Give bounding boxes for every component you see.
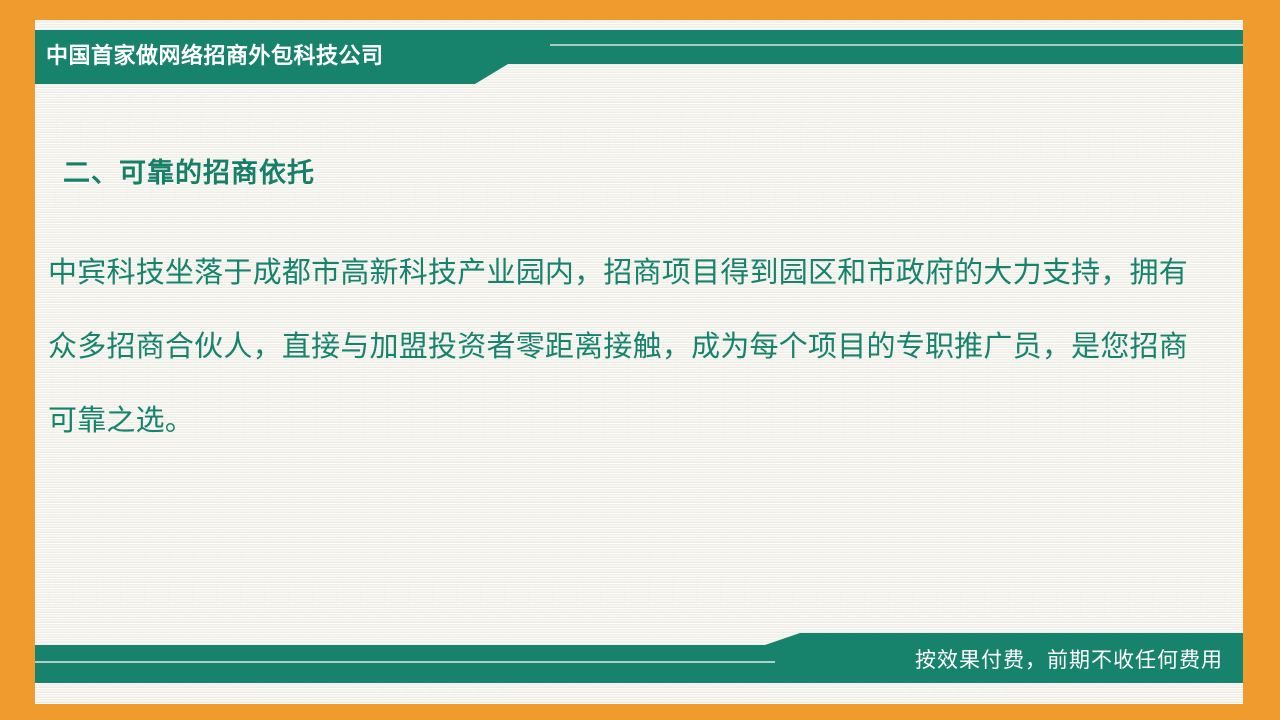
section-paragraph: 中宾科技坐落于成都市高新科技产业园内，招商项目得到园区和市政府的大力支持，拥有众… xyxy=(48,236,1188,458)
slide-canvas: 中国首家做网络招商外包科技公司 二、可靠的招商依托 中宾科技坐落于成都市高新科技… xyxy=(0,0,1280,720)
header-accent-line xyxy=(550,44,1243,46)
slide-content-area: 中国首家做网络招商外包科技公司 二、可靠的招商依托 中宾科技坐落于成都市高新科技… xyxy=(35,20,1243,704)
footer-note: 按效果付费，前期不收任何费用 xyxy=(915,646,1223,676)
header-title: 中国首家做网络招商外包科技公司 xyxy=(46,39,384,73)
section-heading: 二、可靠的招商依托 xyxy=(63,151,315,190)
footer-accent-line xyxy=(35,661,775,663)
